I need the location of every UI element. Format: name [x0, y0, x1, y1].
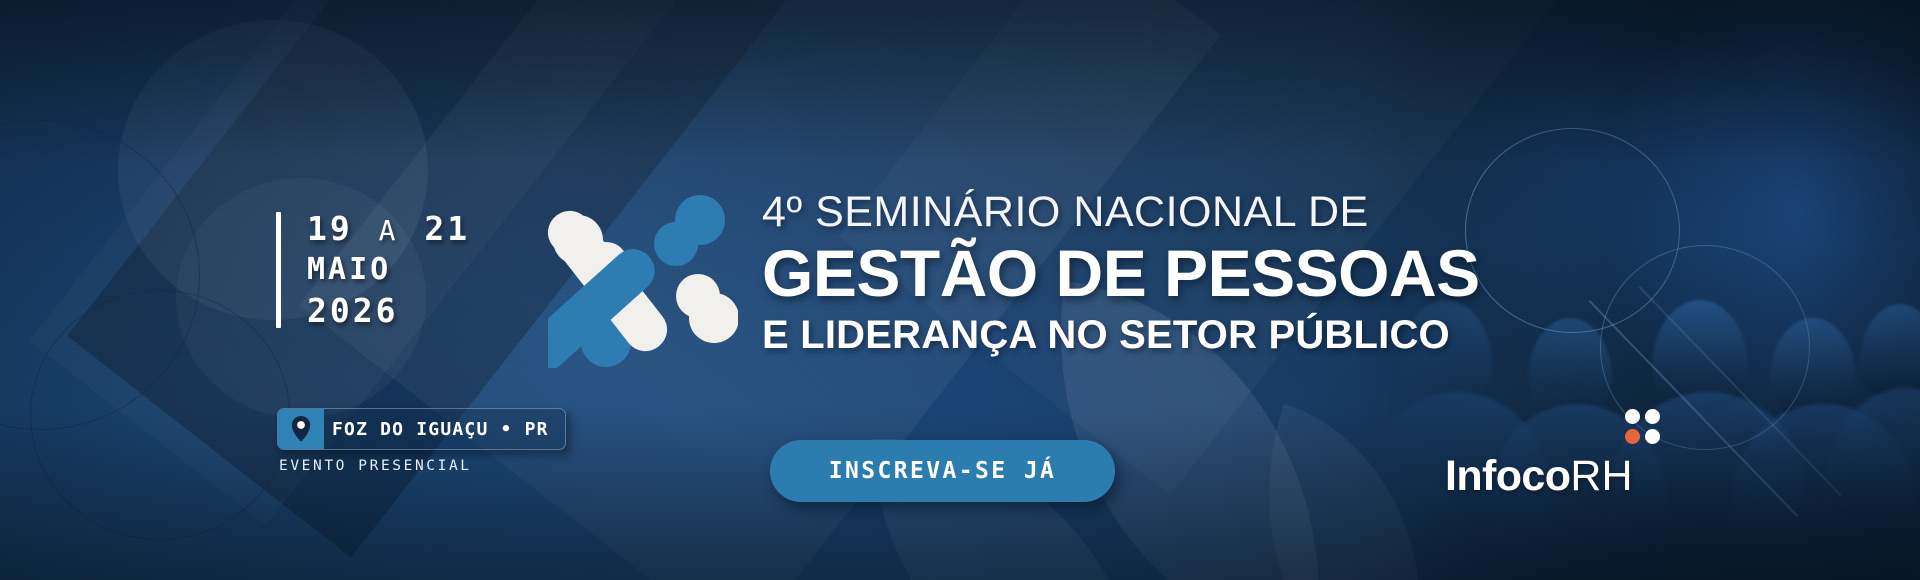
- headline-sub: E LIDERANÇA NO SETOR PÚBLICO: [762, 314, 1522, 356]
- event-date-month: MAIO: [307, 255, 470, 286]
- event-banner: 19 A 21 MAIO 2026 FOZ DO IGUAÇU • PR EVE…: [0, 0, 1920, 580]
- register-cta-button[interactable]: INSCREVA-SE JÁ: [770, 440, 1115, 502]
- x-crossing-bars-icon: [548, 178, 738, 368]
- headline-kicker: 4º SEMINÁRIO NACIONAL DE: [762, 190, 1522, 235]
- brand-dot-bottom-right: [1645, 429, 1660, 444]
- headline-group: 4º SEMINÁRIO NACIONAL DE GESTÃO DE PESSO…: [762, 190, 1522, 356]
- event-date-block: 19 A 21 MAIO 2026: [276, 212, 470, 328]
- banner-content: 19 A 21 MAIO 2026 FOZ DO IGUAÇU • PR EVE…: [0, 0, 1920, 580]
- map-pin-icon: [290, 415, 312, 443]
- four-dot-grid-icon: [1625, 409, 1660, 444]
- brand-dot-bottom-left-accent: [1625, 429, 1640, 444]
- event-modality: EVENTO PRESENCIAL: [279, 458, 472, 474]
- location-city-state: FOZ DO IGUAÇU • PR: [324, 419, 565, 440]
- brand-name-light: RH: [1570, 452, 1632, 500]
- date-divider-rule: [276, 212, 281, 328]
- headline-main: GESTÃO DE PESSOAS: [762, 239, 1522, 308]
- date-day-start: 19: [307, 209, 353, 248]
- brand-wordmark: InfocoRH: [1445, 455, 1633, 498]
- brand-dot-top-right: [1645, 409, 1660, 424]
- infoco-rh-logo: InfocoRH: [1445, 455, 1633, 498]
- location-icon-container: [278, 409, 324, 449]
- date-day-end: 21: [424, 209, 470, 248]
- location-badge: FOZ DO IGUAÇU • PR: [277, 408, 566, 450]
- event-date-days: 19 A 21: [307, 212, 470, 246]
- date-separator: A: [376, 214, 402, 247]
- brand-name-strong: Infoco: [1445, 452, 1570, 500]
- brand-dot-top-left: [1625, 409, 1640, 424]
- event-date-year: 2026: [307, 294, 470, 328]
